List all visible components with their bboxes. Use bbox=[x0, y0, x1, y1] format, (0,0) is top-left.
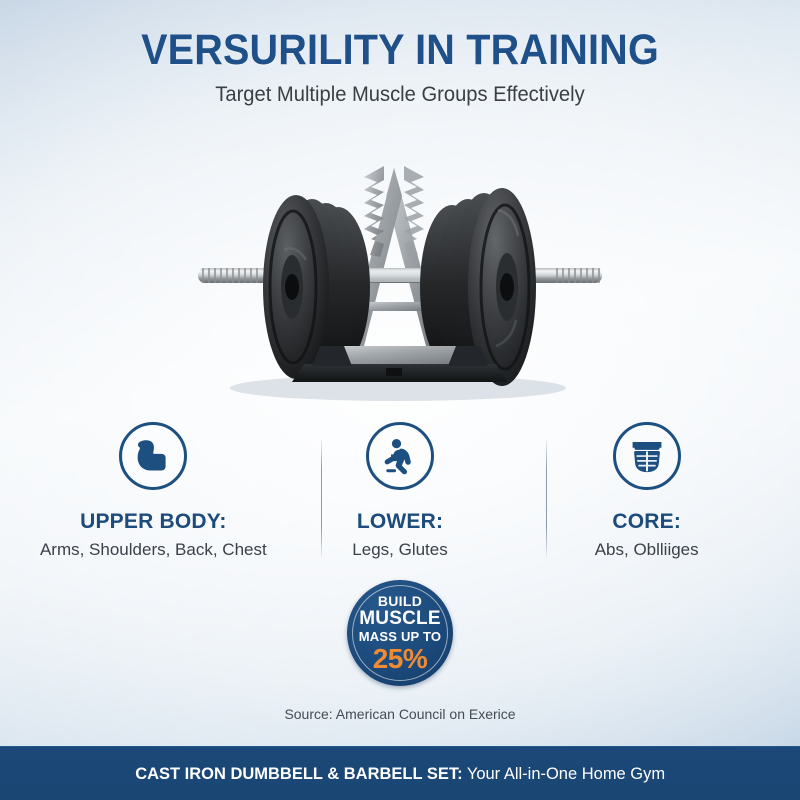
badge-line-2: MUSCLE bbox=[359, 609, 440, 629]
flexed-bicep-icon bbox=[133, 436, 173, 476]
barbell-bar bbox=[198, 268, 602, 283]
page-subtitle: Target Multiple Muscle Groups Effectivel… bbox=[16, 83, 784, 107]
header: VERSURILITY IN TRAINING Target Multiple … bbox=[0, 26, 800, 107]
feature-lower-body: LOWER: Legs, Glutes bbox=[277, 418, 524, 560]
source-citation: Source: American Council on Exerice bbox=[0, 706, 800, 723]
feature-divider bbox=[546, 440, 547, 557]
product-image bbox=[180, 150, 620, 405]
badge-line-3: MASS UP TO bbox=[359, 629, 441, 644]
banner-text: CAST IRON DUMBBELL & BARBELL SET: Your A… bbox=[135, 764, 665, 784]
badge-percent-value: 25% bbox=[373, 644, 428, 673]
abs-torso-icon bbox=[627, 436, 667, 476]
feature-description: Arms, Shoulders, Back, Chest bbox=[30, 539, 277, 560]
squatting-person-icon bbox=[380, 436, 420, 476]
feature-title: CORE: bbox=[523, 510, 770, 534]
feature-title: UPPER BODY: bbox=[30, 510, 277, 534]
feature-title: LOWER: bbox=[277, 510, 524, 534]
bottom-banner: CAST IRON DUMBBELL & BARBELL SET: Your A… bbox=[0, 746, 800, 800]
abs-torso-icon-circle bbox=[613, 422, 681, 490]
badge-line-1: BUILD bbox=[378, 594, 422, 609]
feature-divider bbox=[321, 440, 322, 557]
flexed-bicep-icon-circle bbox=[119, 422, 187, 490]
squatting-person-icon-circle bbox=[366, 422, 434, 490]
rack-base bbox=[292, 346, 508, 382]
dumbbell-barbell-set-illustration bbox=[180, 150, 620, 405]
infographic-canvas: VERSURILITY IN TRAINING Target Multiple … bbox=[0, 0, 800, 800]
banner-headline: CAST IRON DUMBBELL & BARBELL SET: bbox=[135, 764, 462, 783]
build-muscle-badge: BUILD MUSCLE MASS UP TO 25% bbox=[347, 580, 453, 686]
feature-core: CORE: Abs, Oblliiges bbox=[523, 418, 770, 560]
feature-row: UPPER BODY: Arms, Shoulders, Back, Chest… bbox=[30, 418, 770, 563]
page-title: VERSURILITY IN TRAINING bbox=[32, 26, 768, 74]
feature-description: Abs, Oblliiges bbox=[523, 539, 770, 560]
banner-tagline: Your All-in-One Home Gym bbox=[462, 764, 665, 783]
feature-upper-body: UPPER BODY: Arms, Shoulders, Back, Chest bbox=[30, 418, 277, 560]
feature-description: Legs, Glutes bbox=[277, 539, 524, 560]
